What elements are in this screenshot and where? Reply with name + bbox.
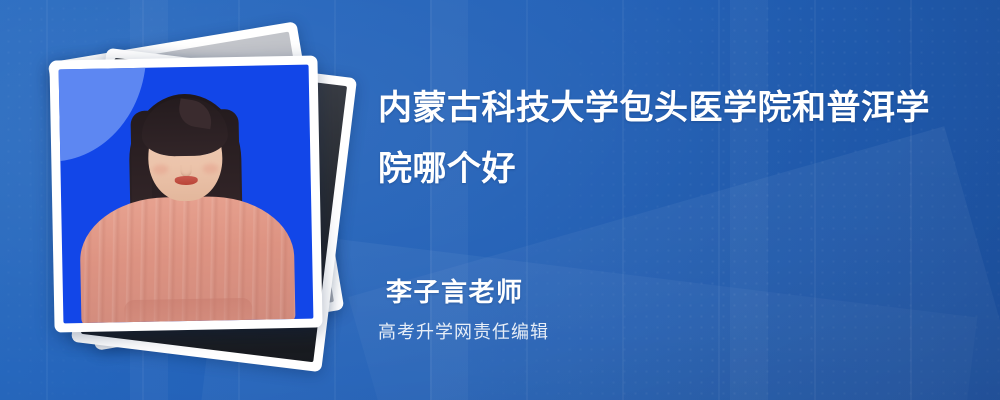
portrait-lips [174, 175, 197, 184]
photo-card-stack [52, 40, 352, 360]
article-header-banner: 内蒙古科技大学包头医学院和普洱学院哪个好 李子言老师 高考升学网责任编辑 [0, 0, 1000, 400]
author-role: 高考升学网责任编辑 [378, 318, 549, 344]
page-title: 内蒙古科技大学包头医学院和普洱学院哪个好 [378, 78, 938, 199]
author-name: 李子言老师 [386, 272, 524, 309]
portrait-cheek-right [202, 163, 218, 173]
portrait-dress-waist [124, 298, 252, 324]
banner-text-column: 内蒙古科技大学包头医学院和普洱学院哪个好 李子言老师 高考升学网责任编辑 [378, 0, 978, 400]
portrait-cheek-left [152, 164, 168, 174]
portrait-figure [59, 65, 314, 324]
editor-portrait-photo [59, 65, 314, 324]
editor-photo-card [49, 55, 322, 332]
